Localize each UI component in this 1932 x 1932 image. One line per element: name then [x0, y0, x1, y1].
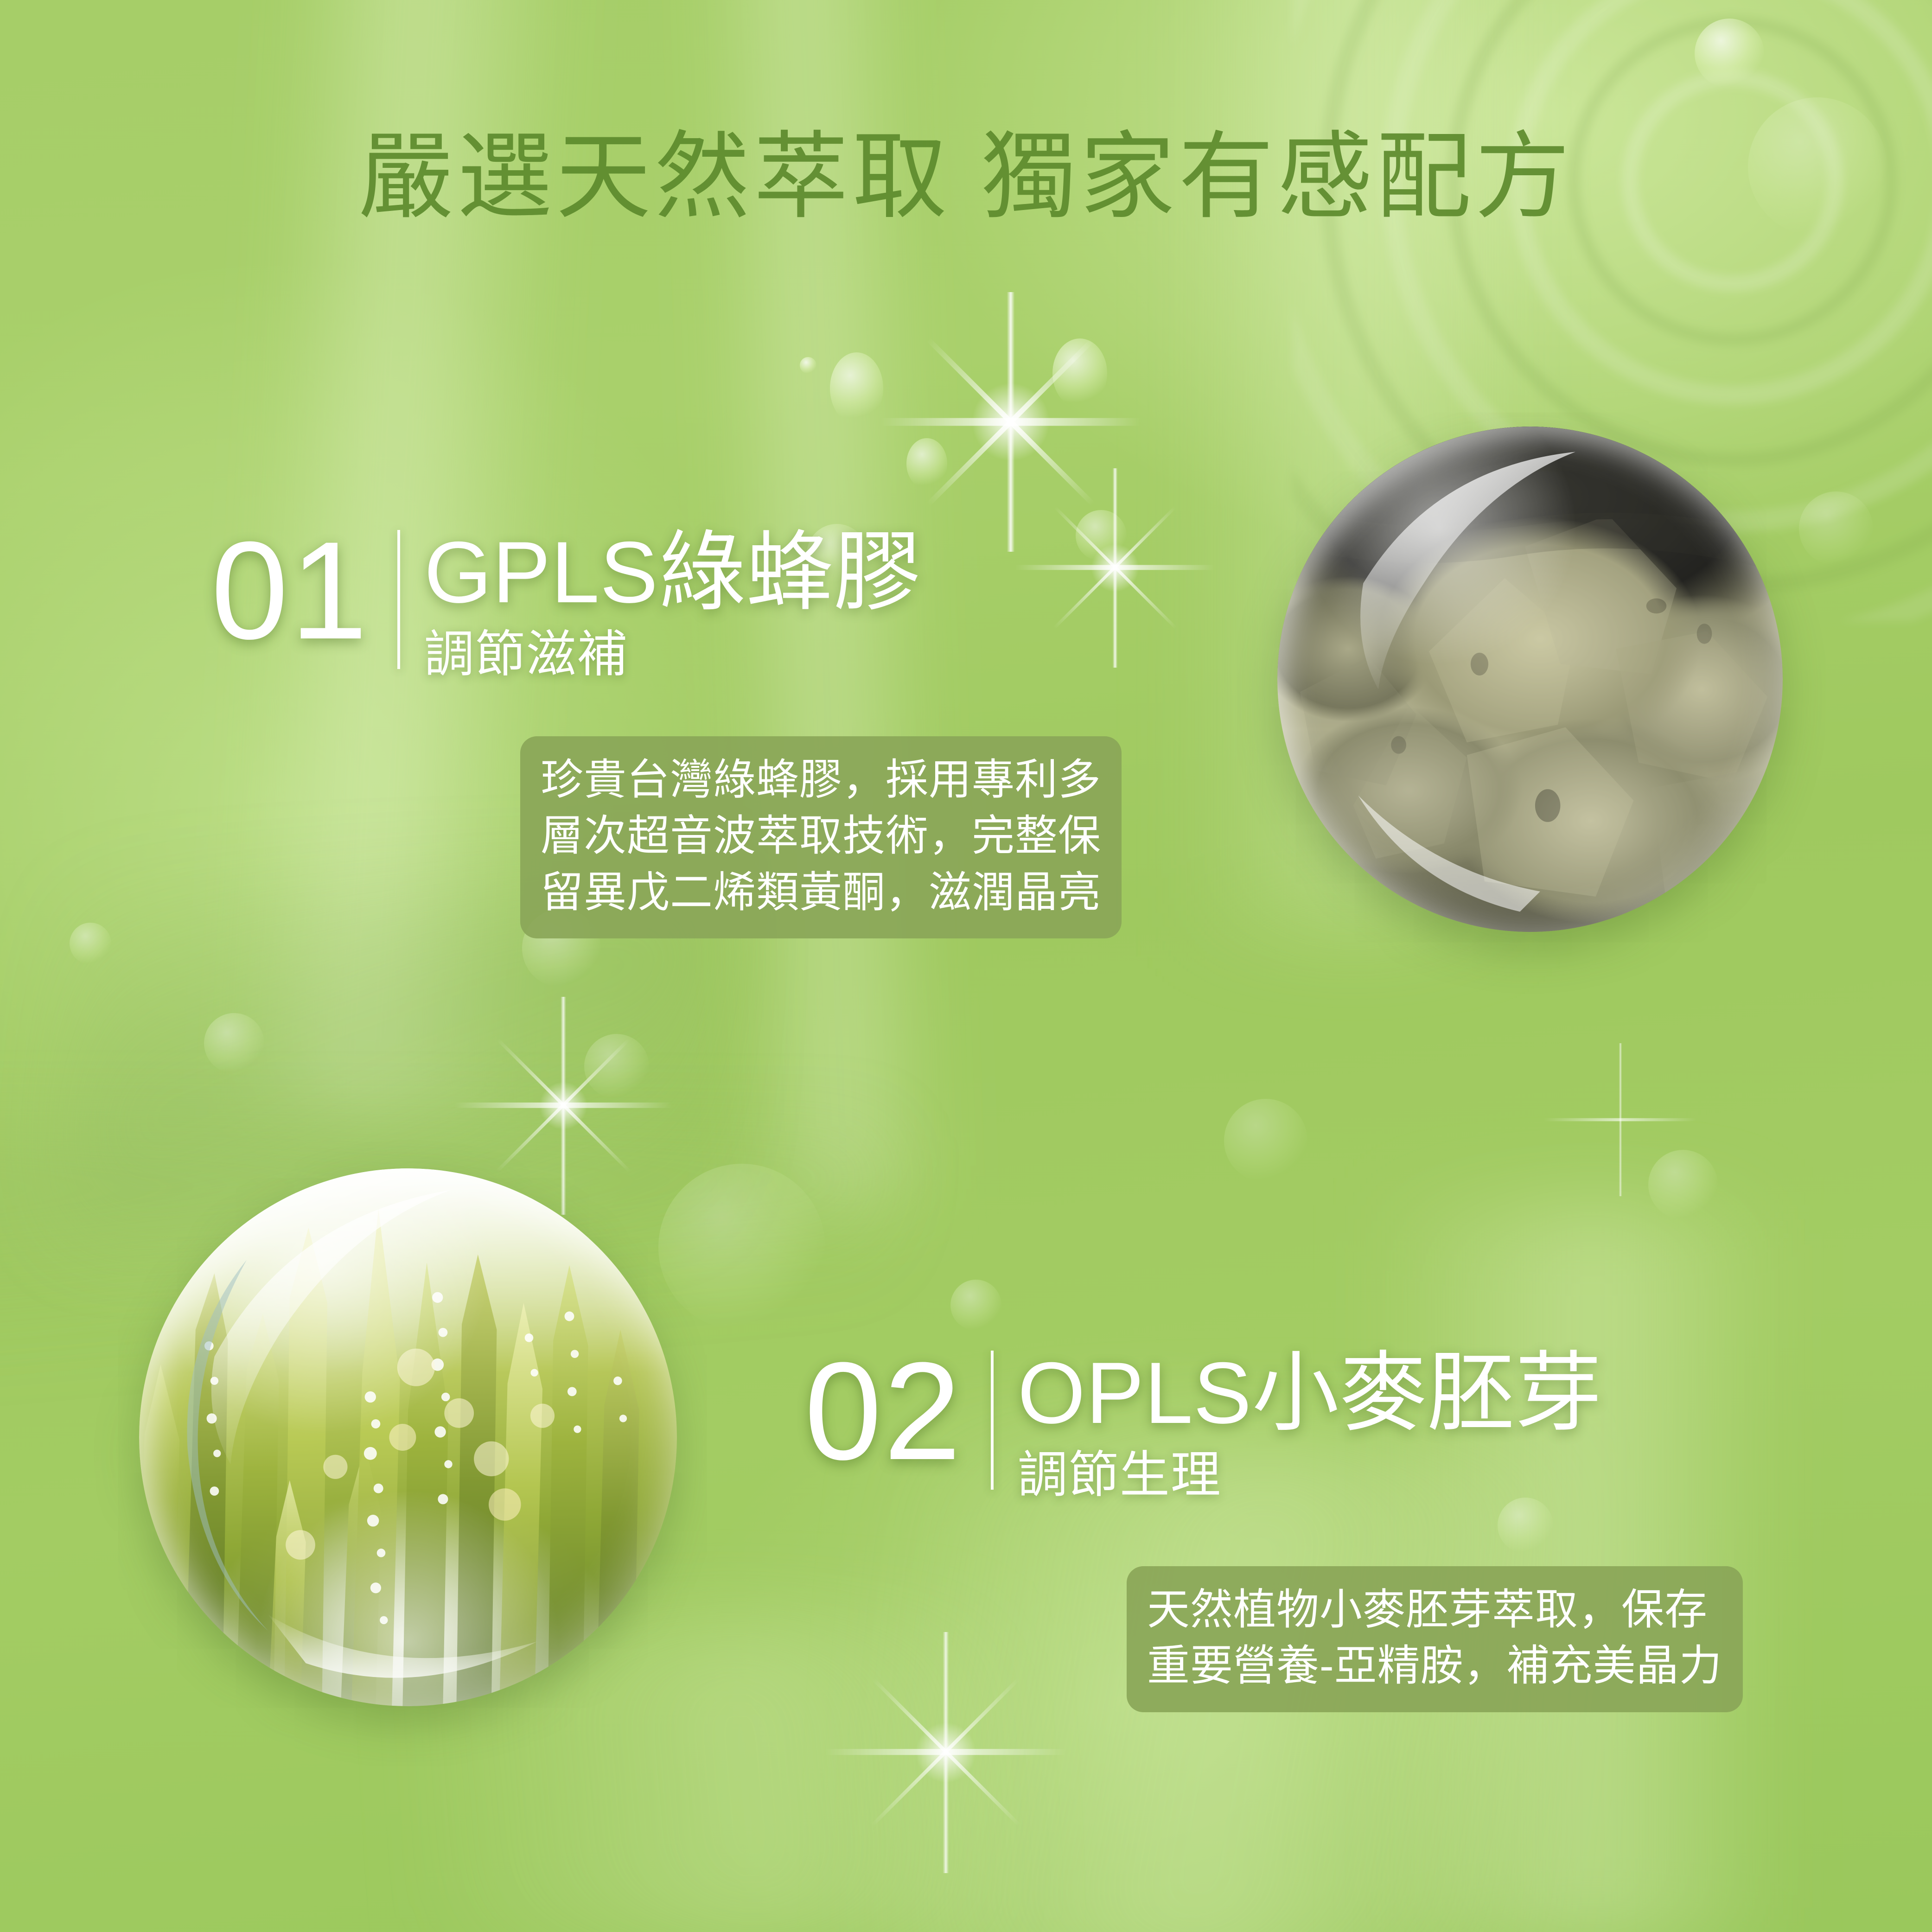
bokeh-circle [1695, 19, 1764, 88]
feature-description-01: 珍貴台灣綠蜂膠，採用專利多 層次超音波萃取技術，完整保 留異戊二烯類黃酮，滋潤晶… [520, 736, 1122, 938]
promo-poster: 嚴選天然萃取 獨家有感配方 [0, 0, 1932, 1932]
bokeh-circle [70, 923, 111, 964]
description-line: 層次超音波萃取技術，完整保 [541, 808, 1101, 864]
propolis-texture [1277, 427, 1783, 932]
bokeh-circle [1076, 510, 1127, 561]
page-title: 嚴選天然萃取 獨家有感配方 [0, 100, 1932, 237]
feature-subtitle: 調節滋補 [424, 624, 922, 685]
feature-description-02: 天然植物小麥胚芽萃取，保存 重要營養-亞精胺，補充美晶力 [1127, 1566, 1743, 1712]
bokeh-circle [1498, 1498, 1553, 1553]
feature-block-02: 02 OPLS小麥胚芽 調節生理 [804, 1347, 1602, 1505]
ingredient-image-wheatgrass [139, 1168, 677, 1706]
bokeh-circle [1799, 491, 1873, 566]
ingredient-image-propolis [1277, 427, 1783, 932]
bokeh-circle [906, 438, 947, 489]
bokeh-circle [800, 357, 816, 374]
description-line: 天然植物小麥胚芽萃取，保存 [1147, 1582, 1722, 1638]
bokeh-circle [1052, 338, 1107, 408]
bokeh-circle [584, 1034, 649, 1099]
feature-block-01: 01 GPLS綠蜂膠 調節滋補 [211, 526, 921, 685]
bokeh-circle [658, 1164, 825, 1331]
vertical-divider [397, 530, 400, 669]
sparkle-star-icon [1544, 1043, 1697, 1196]
vertical-divider [991, 1351, 994, 1490]
feature-number: 01 [211, 526, 370, 654]
description-line: 重要營養-亞精胺，補充美晶力 [1147, 1638, 1722, 1694]
feature-subtitle: 調節生理 [1018, 1444, 1603, 1505]
bokeh-circle [1648, 1150, 1718, 1219]
feature-title: GPLS綠蜂膠 [424, 528, 922, 617]
feature-title: OPLS小麥胚芽 [1018, 1349, 1603, 1438]
wheatgrass-blades [139, 1168, 677, 1706]
bokeh-circle [830, 352, 883, 424]
description-line: 珍貴台灣綠蜂膠，採用專利多 [541, 752, 1101, 808]
bokeh-circle [204, 1013, 264, 1073]
description-line: 留異戊二烯類黃酮，滋潤晶亮 [541, 865, 1101, 921]
sparkle-star-icon [1015, 468, 1215, 668]
sparkle-star-icon [881, 292, 1141, 552]
bokeh-circle [1224, 1099, 1307, 1182]
bokeh-circle [950, 1280, 1001, 1331]
feature-number: 02 [804, 1347, 963, 1475]
sparkle-star-icon [825, 1632, 1066, 1873]
